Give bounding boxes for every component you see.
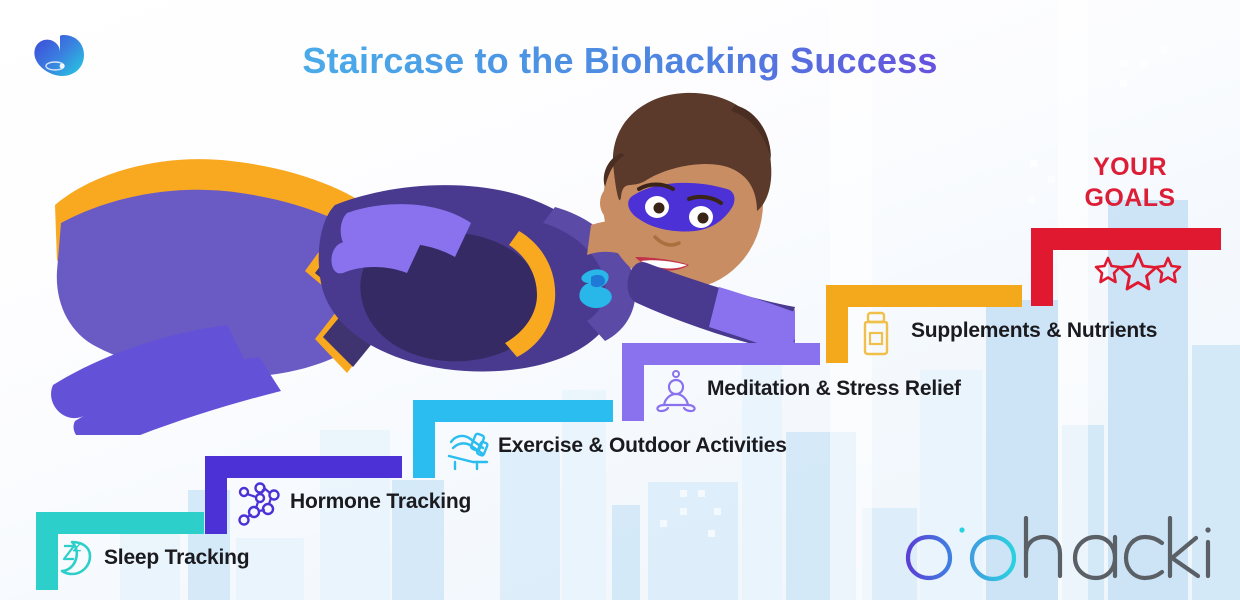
meditation-icon xyxy=(654,369,698,420)
window xyxy=(660,520,667,527)
page-title: Staircase to the Biohacking Success xyxy=(0,40,1240,82)
building xyxy=(500,450,560,600)
window xyxy=(1030,160,1037,167)
building xyxy=(612,505,640,600)
stars-icon xyxy=(1090,252,1186,301)
star-right xyxy=(1156,258,1180,282)
step-tread xyxy=(413,400,613,422)
window xyxy=(680,508,687,515)
goals-line-2: GOALS xyxy=(1055,183,1205,214)
window xyxy=(1028,196,1035,203)
window xyxy=(680,490,687,497)
step-riser xyxy=(826,285,848,363)
biohacking-wordmark[interactable] xyxy=(900,512,1216,597)
star-center xyxy=(1120,254,1156,289)
window xyxy=(708,530,715,537)
window xyxy=(698,490,705,497)
step-riser xyxy=(413,400,435,478)
building xyxy=(648,482,738,600)
infographic-canvas: Staircase to the Biohacking Success xyxy=(0,0,1240,600)
step-label: Exercise & Outdoor Activities xyxy=(498,434,787,458)
bench-press-icon xyxy=(443,428,491,477)
molecule-icon xyxy=(235,482,283,533)
step-riser xyxy=(622,343,644,421)
step-riser xyxy=(205,456,227,534)
step-tread xyxy=(36,512,204,534)
step-tread xyxy=(1031,228,1221,250)
window xyxy=(714,508,721,515)
step-label: Meditation & Stress Relief xyxy=(707,377,961,401)
step-riser xyxy=(1031,228,1053,306)
supplement-bottle-icon xyxy=(856,311,896,362)
step-tread xyxy=(622,343,820,365)
step-label: Hormone Tracking xyxy=(290,490,471,514)
sky-wash xyxy=(1058,0,1088,600)
step-label: Supplements & Nutrients xyxy=(911,319,1157,343)
window xyxy=(1048,176,1055,183)
eye-left-pupil xyxy=(654,203,665,214)
step-riser xyxy=(36,512,58,590)
step-tread xyxy=(205,456,402,478)
star-left xyxy=(1096,258,1120,282)
your-goals-heading: YOUR GOALS xyxy=(1055,152,1205,213)
moon-zzz-icon xyxy=(56,538,102,587)
goals-line-1: YOUR xyxy=(1055,152,1205,183)
step-label: Sleep Tracking xyxy=(104,546,249,570)
step-tread xyxy=(826,285,1022,307)
eye-right-pupil xyxy=(698,213,709,224)
